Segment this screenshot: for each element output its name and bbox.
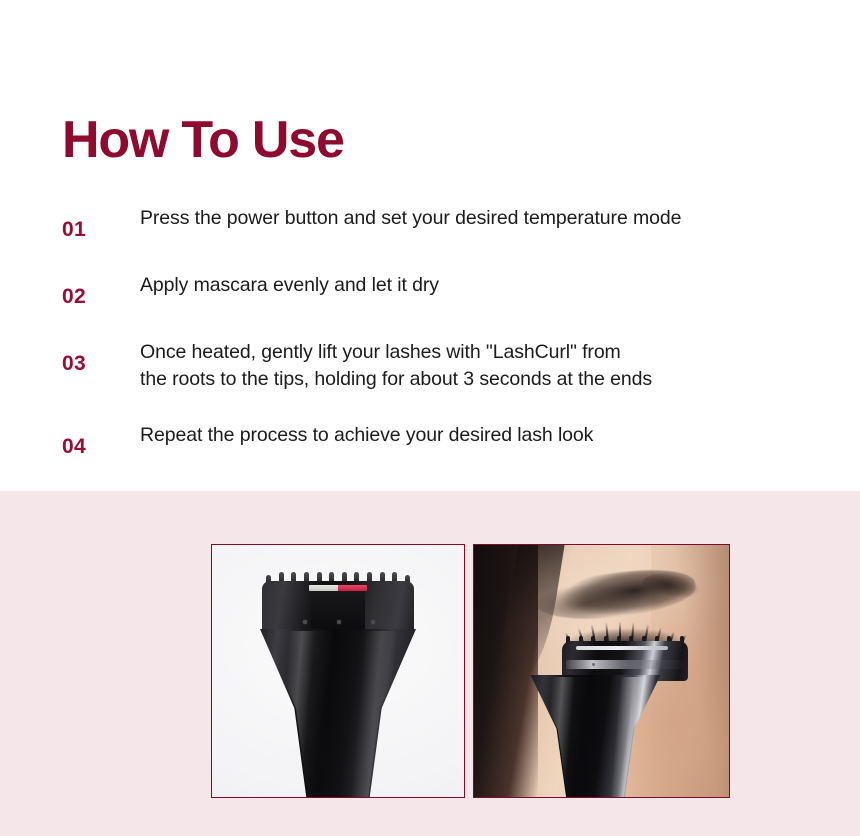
device-screw: [592, 663, 595, 666]
step-number: 04: [62, 422, 140, 460]
device-screw: [337, 620, 341, 624]
device-indicator-strip: [576, 646, 668, 650]
product-device-photo-stage: [212, 545, 464, 797]
device-screw: [303, 620, 307, 624]
step-item: 04 Repeat the process to achieve your de…: [62, 422, 842, 460]
product-device-photo: [211, 544, 465, 798]
page-title: How To Use: [62, 114, 344, 166]
step-text: Press the power button and set your desi…: [140, 205, 842, 232]
step-item: 01 Press the power button and set your d…: [62, 205, 842, 243]
photo-panel: [0, 491, 860, 836]
step-number: 01: [62, 205, 140, 243]
application-demo-photo-stage: [474, 545, 729, 797]
application-demo-photo: [473, 544, 730, 798]
device-screw: [656, 663, 659, 666]
step-text: Repeat the process to achieve your desir…: [140, 422, 842, 449]
instructions-panel: How To Use 01 Press the power button and…: [0, 0, 860, 491]
steps-list: 01 Press the power button and set your d…: [62, 205, 842, 460]
step-number: 02: [62, 272, 140, 310]
step-text: Once heated, gently lift your lashes wit…: [140, 339, 842, 393]
device-screw: [371, 620, 375, 624]
step-item: 03 Once heated, gently lift your lashes …: [62, 339, 842, 393]
step-text: Apply mascara evenly and let it dry: [140, 272, 842, 299]
step-number: 03: [62, 339, 140, 377]
step-item: 02 Apply mascara evenly and let it dry: [62, 272, 842, 310]
device-screw: [624, 663, 627, 666]
